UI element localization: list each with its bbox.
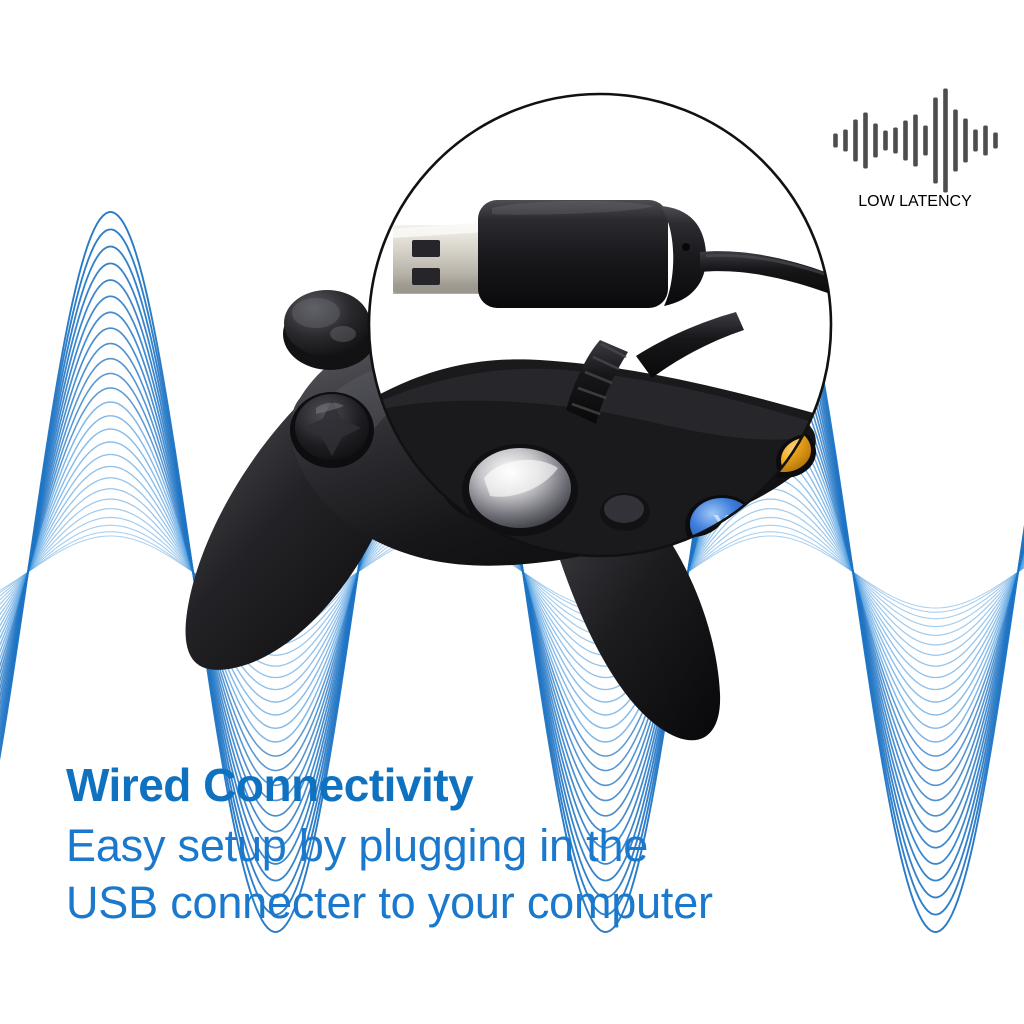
waveform-bar [973,130,978,152]
waveform-bar [993,133,998,149]
page-title: Wired Connectivity [66,762,966,808]
waveform-bar [883,131,888,151]
waveform-bar [863,113,868,169]
waveform-bar [833,134,838,148]
low-latency-label: LOW LATENCY [858,193,972,211]
product-feature-image: X MODE START [0,0,1024,1024]
waveform-bar [963,119,968,163]
waveform-bar [873,124,878,158]
waveform-bar [943,89,948,193]
waveform-bar [893,128,898,154]
waveform-bar [923,126,928,156]
audio-waveform-icon [833,88,998,193]
waveform-bar [843,130,848,152]
feature-copy-block: Wired Connectivity Easy setup by pluggin… [66,762,966,931]
feature-description-line-1: Easy setup by plugging in the [66,818,966,875]
waveform-bar [903,121,908,161]
waveform-bar [983,126,988,156]
low-latency-badge: LOW LATENCY [820,88,1010,248]
waveform-bar [853,120,858,162]
waveform-bar [913,115,918,167]
waveform-bar [953,110,958,172]
waveform-bar [933,98,938,184]
feature-description-line-2: USB connecter to your computer [66,875,966,932]
